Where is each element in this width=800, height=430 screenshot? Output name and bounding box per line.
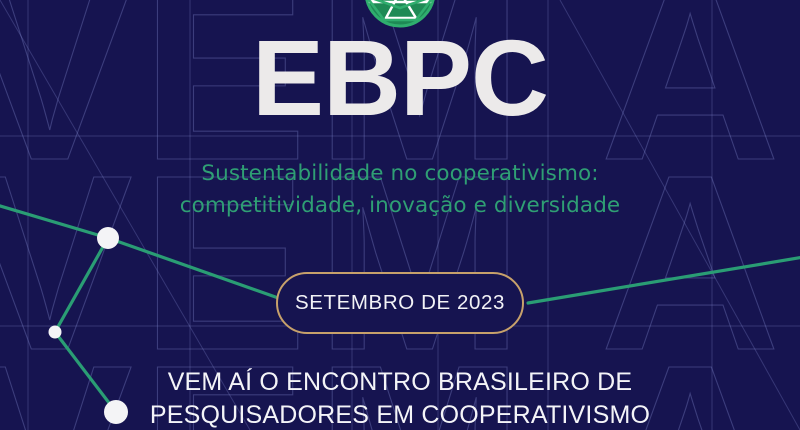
footer-line: VEM AÍ O ENCONTRO BRASILEIRO DE xyxy=(0,366,800,399)
footer-line: PESQUISADORES EM COOPERATIVISMO xyxy=(0,399,800,430)
subtitle-line: competitividade, inovação e diversidade xyxy=(0,190,800,222)
network-edge xyxy=(528,256,800,303)
subtitle-line: Sustentabilidade no cooperativismo: xyxy=(0,158,800,190)
date-badge-label: SETEMBRO DE 2023 xyxy=(295,291,505,315)
page-title: EBPC xyxy=(0,24,800,132)
network-edge xyxy=(108,238,284,300)
poster-footer-text: VEM AÍ O ENCONTRO BRASILEIRO DE PESQUISA… xyxy=(0,366,800,430)
event-poster: VEM AÍ VEM AÍ VEM AÍ xyxy=(0,0,800,430)
poster-subtitle: Sustentabilidade no cooperativismo: comp… xyxy=(0,158,800,221)
date-badge: SETEMBRO DE 2023 xyxy=(276,272,524,334)
network-node xyxy=(97,227,119,249)
network-node xyxy=(49,326,62,339)
network-edge xyxy=(55,238,108,332)
